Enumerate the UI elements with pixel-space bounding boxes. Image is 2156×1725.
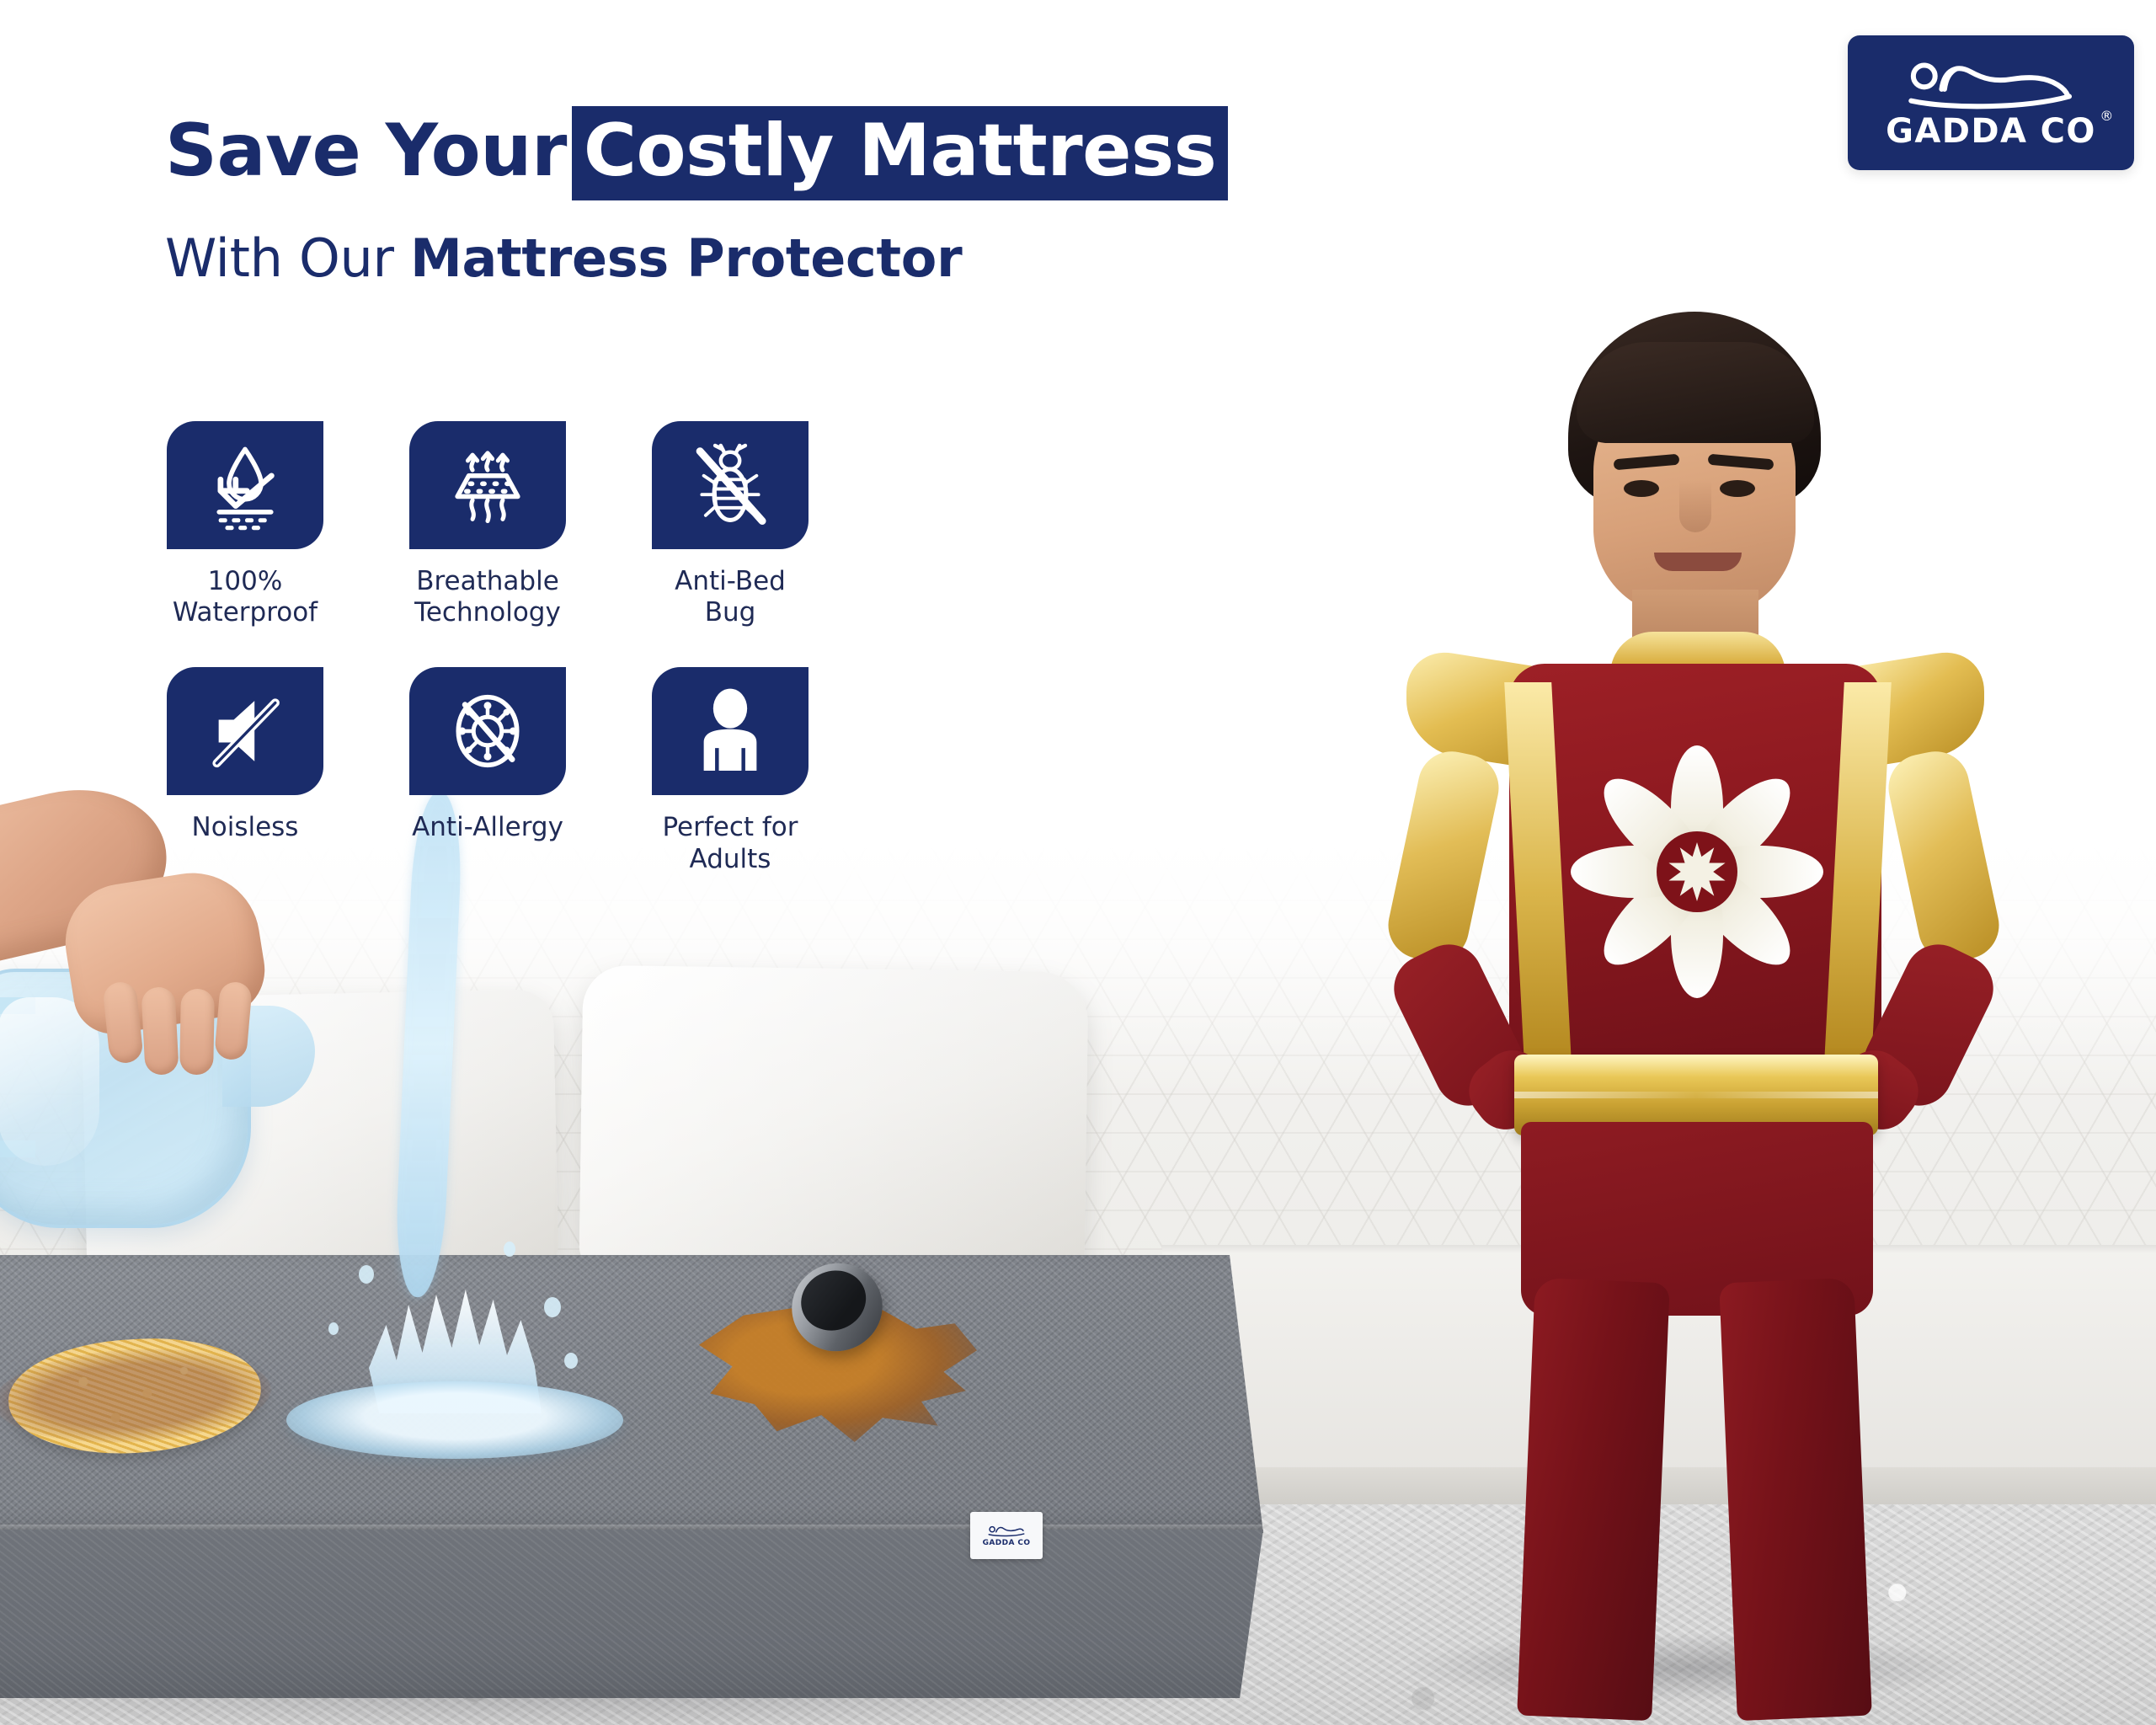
headline-primary: Save YourCostly Mattress (165, 106, 1228, 200)
feature-label-line-1: Noisless (192, 812, 299, 843)
mattress-shadow (0, 1690, 1246, 1725)
subheadline-light-text: With Our (165, 227, 410, 289)
feature-label-line-1: 100% (173, 566, 318, 597)
advertisement-banner: GADDA CO (0, 0, 2156, 1725)
hero-hair-fringe (1577, 342, 1814, 443)
feature-perfect-for-adults[interactable]: Perfect for Adults (650, 667, 810, 874)
pillow-right (579, 965, 1089, 1275)
hero-leg-left (1517, 1278, 1670, 1721)
hero-leg-right (1719, 1278, 1872, 1721)
feature-noisless[interactable]: Noisless (165, 667, 325, 874)
feature-label-line-2: Bug (675, 597, 786, 628)
hero-upper-arm-left (1382, 745, 1505, 968)
water-pool (286, 1381, 623, 1459)
hero-upper-arm-right (1882, 745, 2005, 968)
hero-eye-right (1720, 480, 1755, 497)
pouring-hand-and-pitcher (0, 800, 421, 1339)
muted-speaker-icon (198, 684, 292, 778)
hero-nose (1679, 480, 1711, 532)
feature-label: Anti-Bed Bug (675, 566, 786, 628)
subheadline-bold-text: Mattress Protector (410, 227, 962, 289)
headline-block: Save YourCostly Mattress With Our Mattre… (165, 106, 1228, 285)
headline-secondary: With Our Mattress Protector (165, 232, 1228, 285)
feature-label-line-1: Anti-Allergy (412, 812, 563, 843)
feature-tile (409, 667, 566, 795)
feature-tile (167, 667, 323, 795)
sleeping-person-mattress-mark (1903, 57, 2079, 109)
feature-label-line-2: Technology (414, 597, 561, 628)
feature-grid: 100% Waterproof (165, 421, 856, 875)
sleeping-person-mattress-mark-small (987, 1525, 1026, 1538)
feature-label-line-1: Perfect for (662, 812, 798, 843)
droplet (504, 1242, 515, 1257)
coffee-cup-stain (699, 1263, 977, 1445)
hero-mouth (1654, 553, 1742, 571)
feature-label: Breathable Technology (414, 566, 561, 628)
feature-label: Anti-Allergy (412, 812, 563, 843)
feature-label-line-2: Waterproof (173, 597, 318, 628)
protector-side-skirt (0, 1530, 1263, 1698)
mattress-brand-tag-text: GADDA CO (983, 1540, 1031, 1547)
breathable-airflow-icon (440, 438, 535, 532)
hero-ground-shadow (1406, 1634, 1979, 1701)
anti-bed-bug-icon (683, 438, 777, 532)
waterproof-droplet-icon (198, 438, 292, 532)
feature-waterproof[interactable]: 100% Waterproof (165, 421, 325, 628)
brand-name: GADDA CO (1886, 112, 2096, 151)
feature-label: Noisless (192, 812, 299, 843)
headline-plain-text: Save Your (165, 115, 567, 187)
feature-label: Perfect for Adults (662, 812, 798, 874)
hero-star-flower-emblem (1566, 741, 1828, 1002)
registered-mark: ® (2100, 109, 2114, 123)
feature-row-2: Noisless (165, 667, 856, 874)
brand-logo[interactable]: GADDA CO® (1848, 35, 2134, 170)
droplet (564, 1353, 578, 1369)
feature-tile (409, 421, 566, 549)
feature-anti-bed-bug[interactable]: Anti-Bed Bug (650, 421, 810, 628)
feature-row-1: 100% Waterproof (165, 421, 856, 628)
feature-label-line-2: Adults (662, 844, 798, 875)
emblem-core (1657, 831, 1737, 912)
feature-breathable[interactable]: Breathable Technology (408, 421, 568, 628)
feature-label-line-1: Breathable (414, 566, 561, 597)
feature-label: 100% Waterproof (173, 566, 318, 628)
feature-tile (652, 421, 808, 549)
superhero-figure (1314, 320, 2072, 1725)
finger (179, 989, 215, 1076)
feature-anti-allergy[interactable]: Anti-Allergy (408, 667, 568, 874)
anti-allergy-virus-icon (440, 684, 535, 778)
droplet (544, 1297, 561, 1317)
brand-logo-text: GADDA CO® (1886, 115, 2096, 148)
feature-tile (652, 667, 808, 795)
adult-person-icon (683, 684, 777, 778)
mattress-brand-tag: GADDA CO (970, 1512, 1043, 1559)
feature-label-line-1: Anti-Bed (675, 566, 786, 597)
headline-highlighted-text: Costly Mattress (572, 106, 1228, 200)
feature-tile (167, 421, 323, 549)
hero-eye-left (1624, 480, 1659, 497)
finger (141, 986, 179, 1076)
